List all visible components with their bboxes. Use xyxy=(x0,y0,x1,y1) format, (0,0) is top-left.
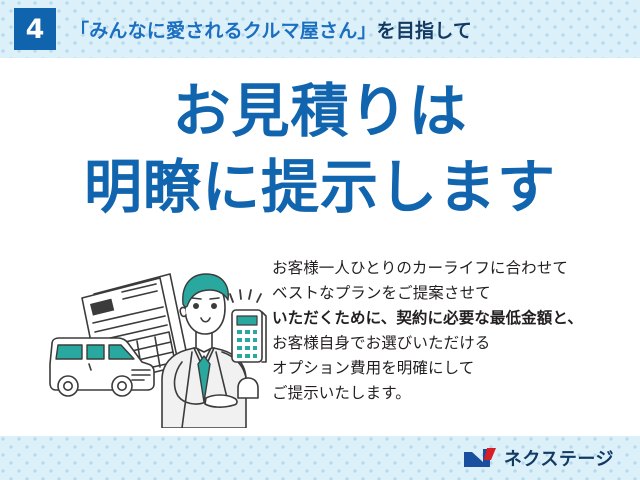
nextage-n-logo-icon xyxy=(463,447,497,469)
brand-logo: ネクステージ xyxy=(463,445,614,471)
calculator-icon xyxy=(232,310,266,362)
illustration-salesman-quote-van xyxy=(42,252,270,428)
step-number-badge: 4 xyxy=(14,8,56,50)
header-title-tail: を目指して xyxy=(377,20,472,42)
header-title: 「みんなに愛されるクルマ屋さん」を目指して xyxy=(70,16,472,43)
body-copy-line: ご提示いたします。 xyxy=(272,381,632,406)
body-copy-line: お客様一人ひとりのカーライフに合わせて xyxy=(272,256,632,281)
header-title-quoted: 「みんなに愛されるクルマ屋さん」 xyxy=(70,20,377,42)
body-copy: お客様一人ひとりのカーライフに合わせて ベストなプランをご提案させて いただくた… xyxy=(272,256,632,406)
headline-line-1: お見積りは xyxy=(0,62,640,140)
body-copy-line: オプション費用を明確にして xyxy=(272,356,632,381)
body-copy-line: お客様自身でお選びいただける xyxy=(272,331,632,356)
promo-slide: 4 「みんなに愛されるクルマ屋さん」を目指して お見積りは 明瞭に提示します お… xyxy=(0,0,640,480)
headline-block: お見積りは 明瞭に提示します xyxy=(0,62,640,216)
sparkle-icon xyxy=(230,290,261,302)
footer-bar: ネクステージ xyxy=(0,436,640,480)
headline-line-2: 明瞭に提示します xyxy=(0,140,640,216)
header-bar: 4 「みんなに愛されるクルマ屋さん」を目指して xyxy=(0,0,640,58)
body-copy-line: ベストなプランをご提案させて xyxy=(272,281,632,306)
body-copy-line: いただくために、契約に必要な最低金額と、 xyxy=(272,306,632,331)
brand-name: ネクステージ xyxy=(504,445,614,471)
